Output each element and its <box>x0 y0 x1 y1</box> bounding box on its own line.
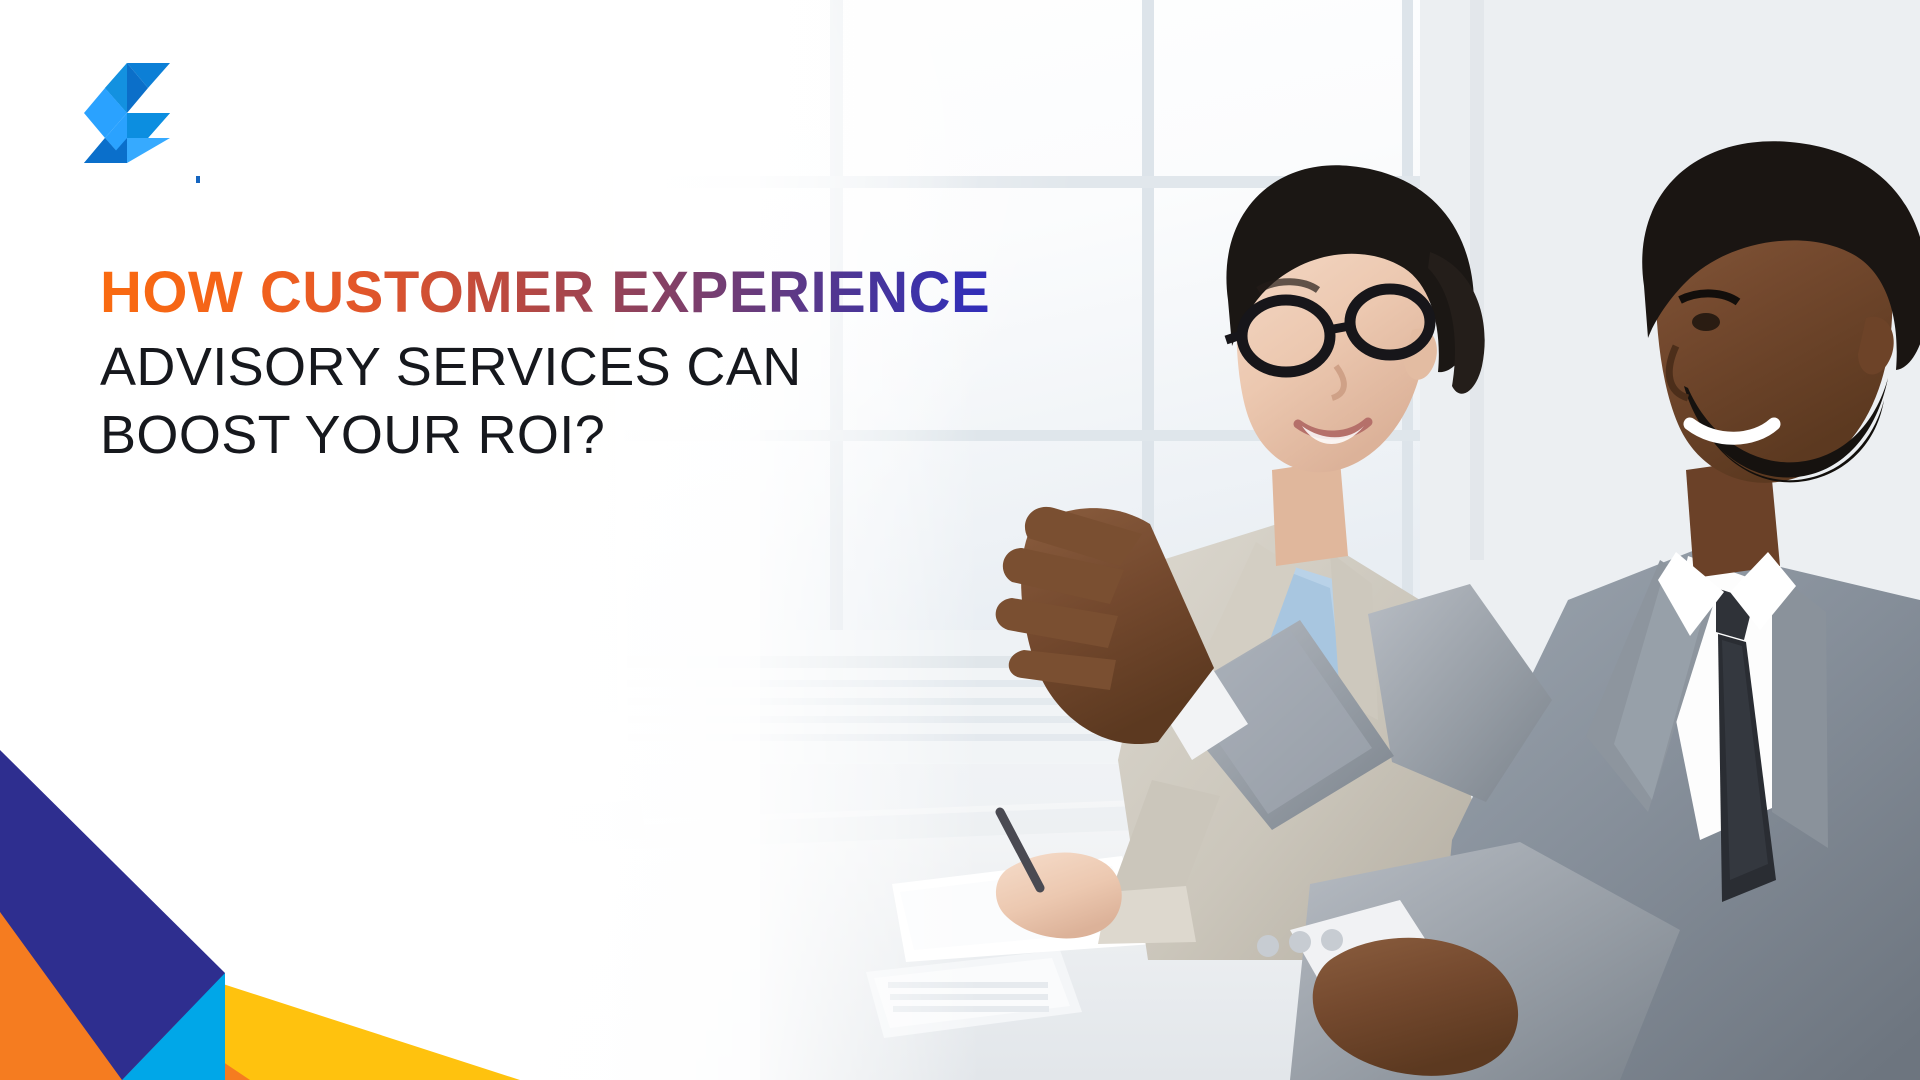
corner-decoration <box>0 720 520 1080</box>
headline-block: HOW CUSTOMER EXPERIENCE ADVISORY SERVICE… <box>100 262 1100 468</box>
banner-canvas: HOW CUSTOMER EXPERIENCE ADVISORY SERVICE… <box>0 0 1920 1080</box>
headline-line-2: ADVISORY SERVICES CAN <box>100 334 1100 400</box>
headline-line-3: BOOST YOUR ROI? <box>100 402 1100 468</box>
logo-accent-dot <box>196 176 200 183</box>
chevron-s-logo-icon[interactable] <box>84 63 170 163</box>
headline-line-1: HOW CUSTOMER EXPERIENCE <box>100 262 1100 324</box>
